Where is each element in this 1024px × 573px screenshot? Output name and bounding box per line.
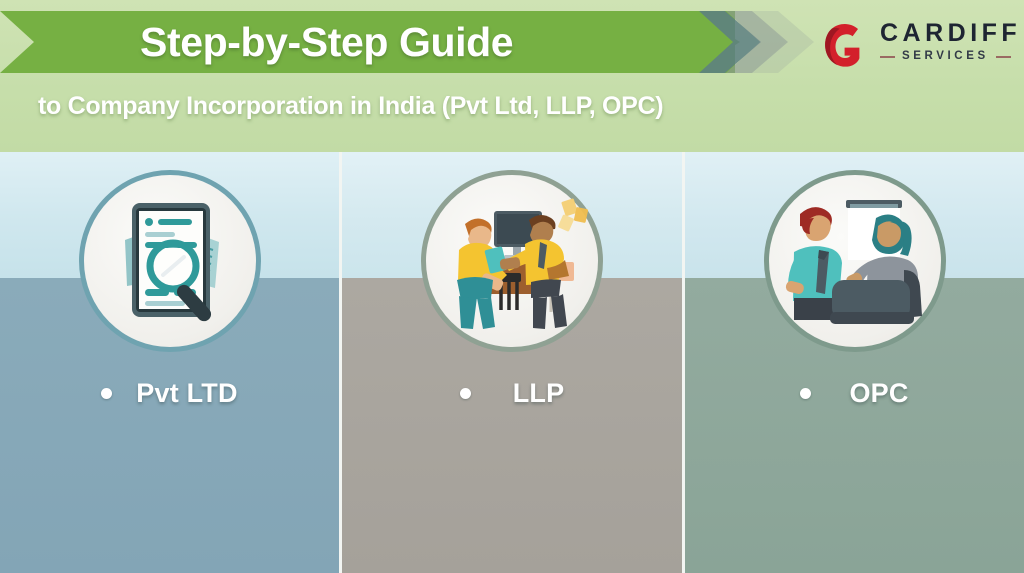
logo-dash-right-icon: [996, 56, 1011, 58]
panel-label-row: OPC: [685, 378, 1024, 409]
entity-type-panels: Pvt LTD: [0, 152, 1024, 573]
panel-icon-badge: [764, 170, 946, 352]
panel-label: OPC: [849, 378, 908, 409]
panel-label: LLP: [513, 378, 565, 409]
logo-dash-left-icon: [880, 56, 895, 58]
panel-label-row: LLP: [342, 378, 682, 409]
panel-llp[interactable]: LLP: [342, 152, 682, 573]
panel-label-row: Pvt LTD: [0, 378, 339, 409]
panel-opc[interactable]: OPC: [685, 152, 1024, 573]
logo-wordmark: CARDIFF SERVICES: [880, 20, 1021, 63]
bullet-icon: [460, 388, 471, 399]
person-presenting-to-seated-client-icon: [764, 170, 946, 352]
panel-label: Pvt LTD: [136, 378, 237, 409]
two-partners-at-desk-icon: [421, 170, 603, 352]
logo-name: CARDIFF: [880, 20, 1021, 47]
logo-tagline-row: SERVICES: [880, 50, 1021, 63]
panel-icon-badge: [79, 170, 261, 352]
bullet-icon: [800, 388, 811, 399]
page-title: Step-by-Step Guide: [140, 18, 513, 66]
logo-tagline: SERVICES: [902, 50, 989, 63]
cardiff-c-mark-icon: [818, 19, 870, 71]
page-subtitle: to Company Incorporation in India (Pvt L…: [38, 90, 663, 122]
header-banner: Step-by-Step Guide to Company Incorporat…: [0, 0, 1024, 152]
bullet-icon: [101, 388, 112, 399]
brand-logo[interactable]: CARDIFF SERVICES: [818, 15, 1014, 77]
panel-pvt-ltd[interactable]: Pvt LTD: [0, 152, 339, 573]
document-magnifier-tablet-icon: [79, 170, 261, 352]
panel-icon-badge: [421, 170, 603, 352]
poster-canvas: Step-by-Step Guide to Company Incorporat…: [0, 0, 1024, 573]
